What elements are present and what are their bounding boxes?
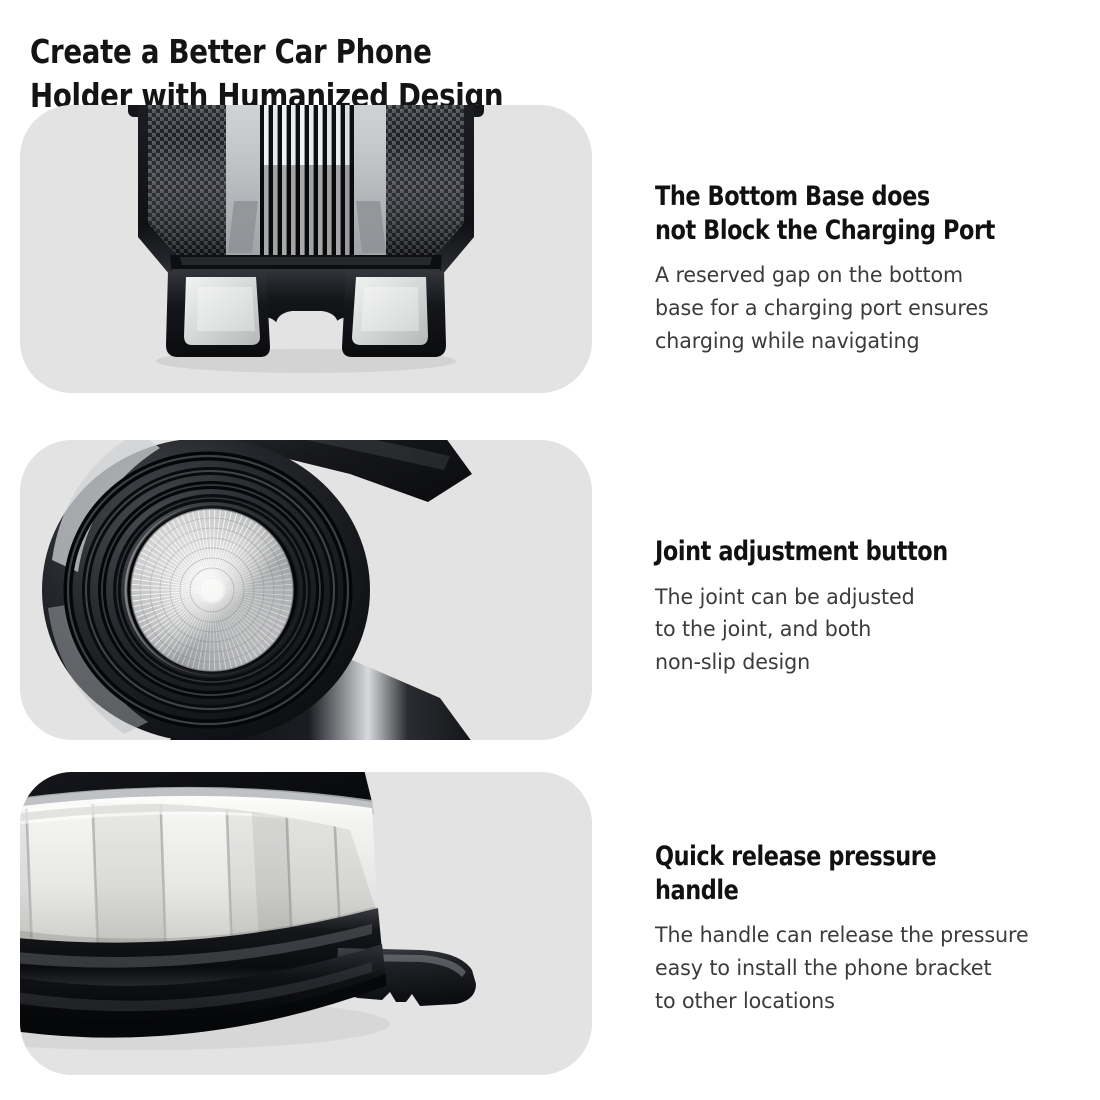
feature-body: The joint can be adjusted to the joint, … [655, 582, 1074, 680]
feature-body: A reserved gap on the bottom base for a … [655, 260, 1074, 358]
joint-adjustment-button-photo [20, 440, 592, 740]
feature-text-block: The Bottom Base does not Block the Charg… [655, 180, 1091, 358]
feature-body: The handle can release the pressure easy… [655, 920, 1074, 1018]
phone-holder-bottom-base-photo [20, 105, 592, 393]
feature-heading: Joint adjustment button [655, 535, 1065, 569]
feature-row: Joint adjustment button The joint can be… [0, 440, 1100, 740]
feature-heading: The Bottom Base does not Block the Charg… [655, 180, 1065, 247]
feature-text-block: Joint adjustment button The joint can be… [655, 535, 1091, 680]
feature-row: Quick release pressure handle The handle… [0, 772, 1100, 1075]
feature-text-block: Quick release pressure handle The handle… [655, 840, 1091, 1018]
feature-row: The Bottom Base does not Block the Charg… [0, 105, 1100, 393]
infographic-page: Create a Better Car Phone Holder with Hu… [0, 0, 1100, 1100]
quick-release-pressure-handle-photo [20, 772, 592, 1075]
feature-heading: Quick release pressure handle [655, 840, 1065, 907]
